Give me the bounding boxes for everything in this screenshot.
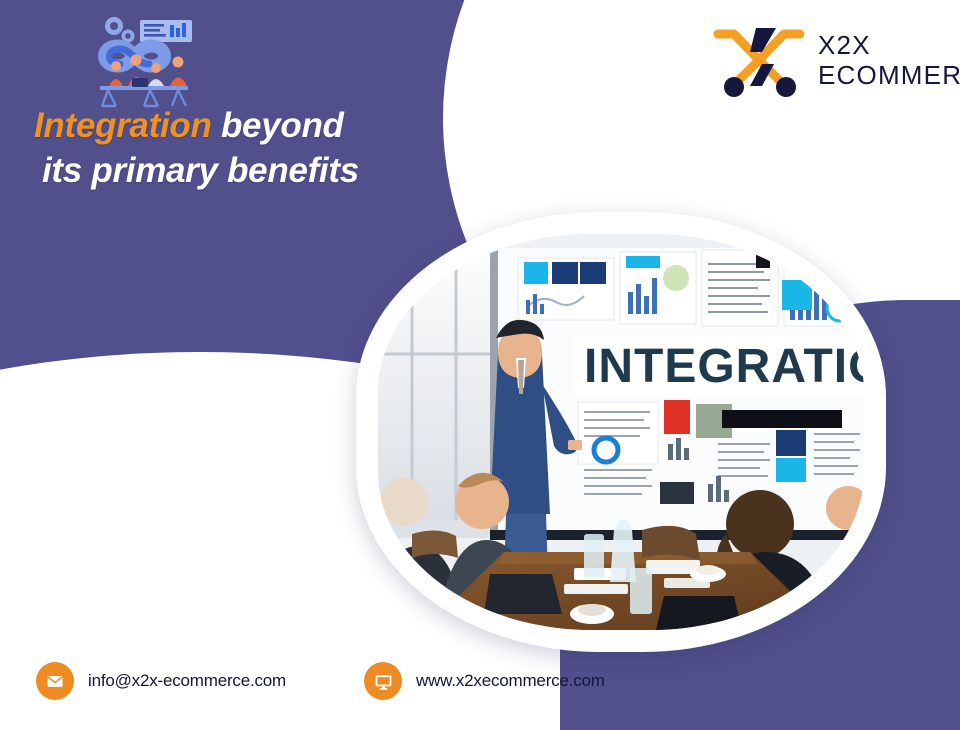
contact-website[interactable]: www.x2xecommerce.com: [364, 662, 605, 700]
shopping-cart-x-logo-icon: [712, 20, 808, 100]
headline: Integration beyond its primary benefits: [34, 104, 504, 194]
contact-email[interactable]: info@x2x-ecommerce.com: [36, 662, 286, 700]
logo-line-1: X2X: [818, 30, 960, 60]
team-collaboration-infinity-illustration-icon: [78, 8, 208, 116]
website-text: www.x2xecommerce.com: [416, 671, 605, 691]
meeting-photo: INTEGRATION: [378, 234, 864, 630]
headline-line1-rest: beyond: [212, 106, 344, 145]
footer-contacts: info@x2x-ecommerce.com www.x2xecommerce.…: [36, 662, 605, 700]
svg-text:INTEGRATION: INTEGRATION: [584, 340, 864, 393]
monitor-icon: [364, 662, 402, 700]
poster-canvas: Integration beyond its primary benefits …: [0, 0, 960, 730]
headline-line2: its primary benefits: [34, 149, 504, 194]
headline-accent-word: Integration: [34, 106, 212, 145]
email-text: info@x2x-ecommerce.com: [88, 671, 286, 691]
brand-logo[interactable]: X2X ECOMMERCE: [712, 20, 960, 100]
logo-line-2: ECOMMERCE: [818, 60, 960, 90]
photo-card: INTEGRATION: [356, 212, 886, 652]
logo-wordmark: X2X ECOMMERCE: [818, 30, 960, 90]
envelope-icon: [36, 662, 74, 700]
